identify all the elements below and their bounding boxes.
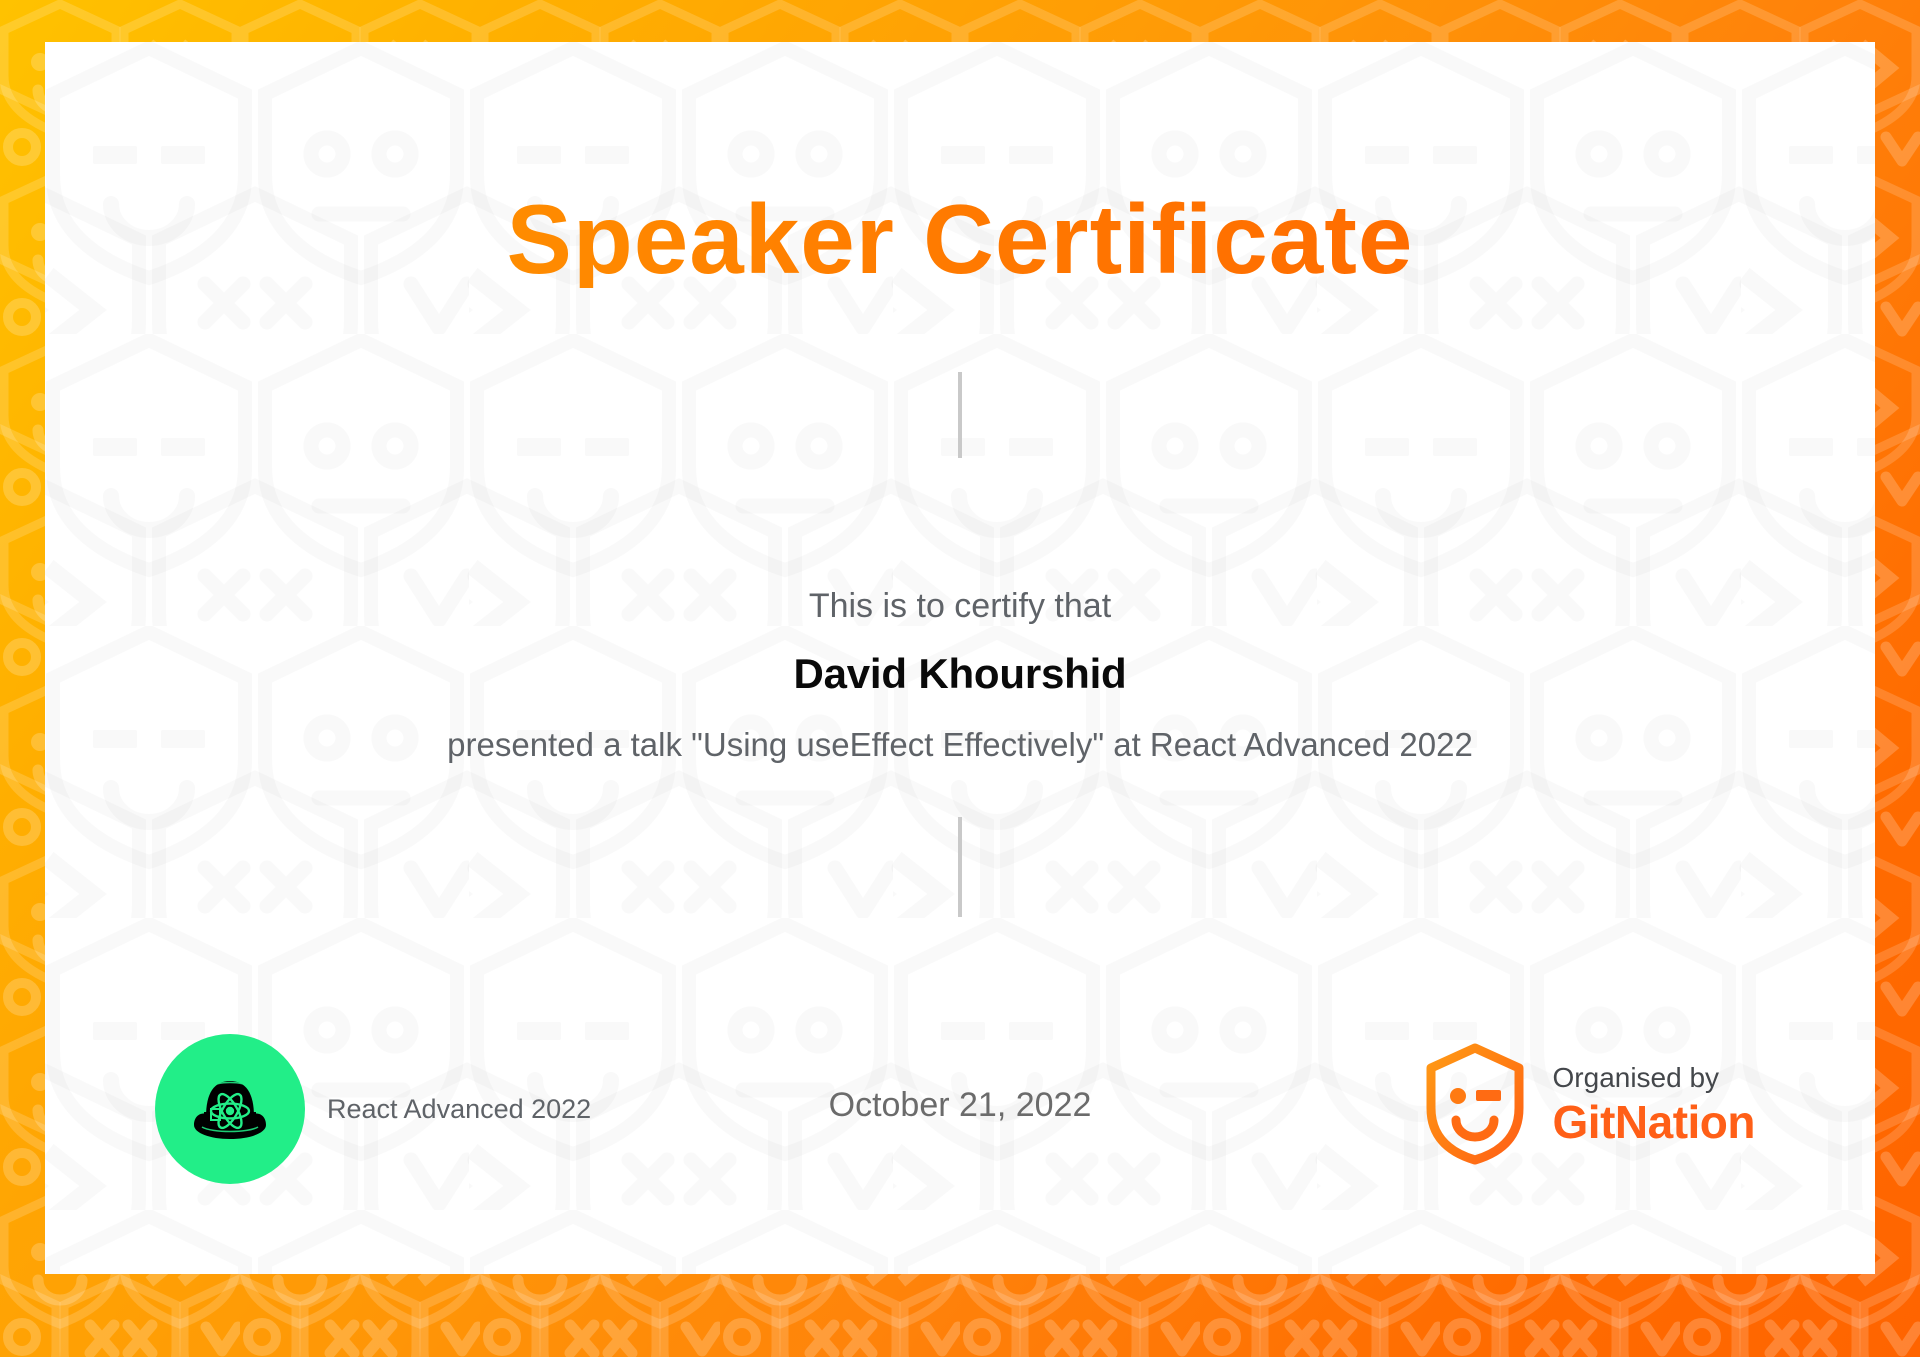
- certify-line: This is to certify that: [45, 587, 1875, 626]
- event-block: React Advanced 2022: [155, 1034, 591, 1184]
- organiser-text: Organised by GitNation: [1553, 1061, 1755, 1147]
- event-name-label: React Advanced 2022: [327, 1094, 591, 1125]
- talk-description: presented a talk "Using useEffect Effect…: [45, 726, 1875, 764]
- certificate-footer: React Advanced 2022 October 21, 2022: [45, 1034, 1875, 1164]
- gitnation-shield-face-icon: [1423, 1042, 1527, 1166]
- organiser-block: Organised by GitNation: [1423, 1042, 1755, 1166]
- page-title: Speaker Certificate: [45, 190, 1875, 288]
- certificate-date: October 21, 2022: [829, 1086, 1092, 1125]
- divider-top: [958, 372, 962, 458]
- react-bowler-hat-icon: [155, 1034, 305, 1184]
- divider-bottom: [958, 817, 962, 917]
- certificate-card: Speaker Certificate This is to certify t…: [45, 42, 1875, 1274]
- certificate-page: Speaker Certificate This is to certify t…: [0, 0, 1920, 1357]
- organised-by-label: Organised by: [1553, 1061, 1755, 1095]
- recipient-name: David Khourshid: [45, 650, 1875, 698]
- organiser-name: GitNation: [1553, 1097, 1755, 1148]
